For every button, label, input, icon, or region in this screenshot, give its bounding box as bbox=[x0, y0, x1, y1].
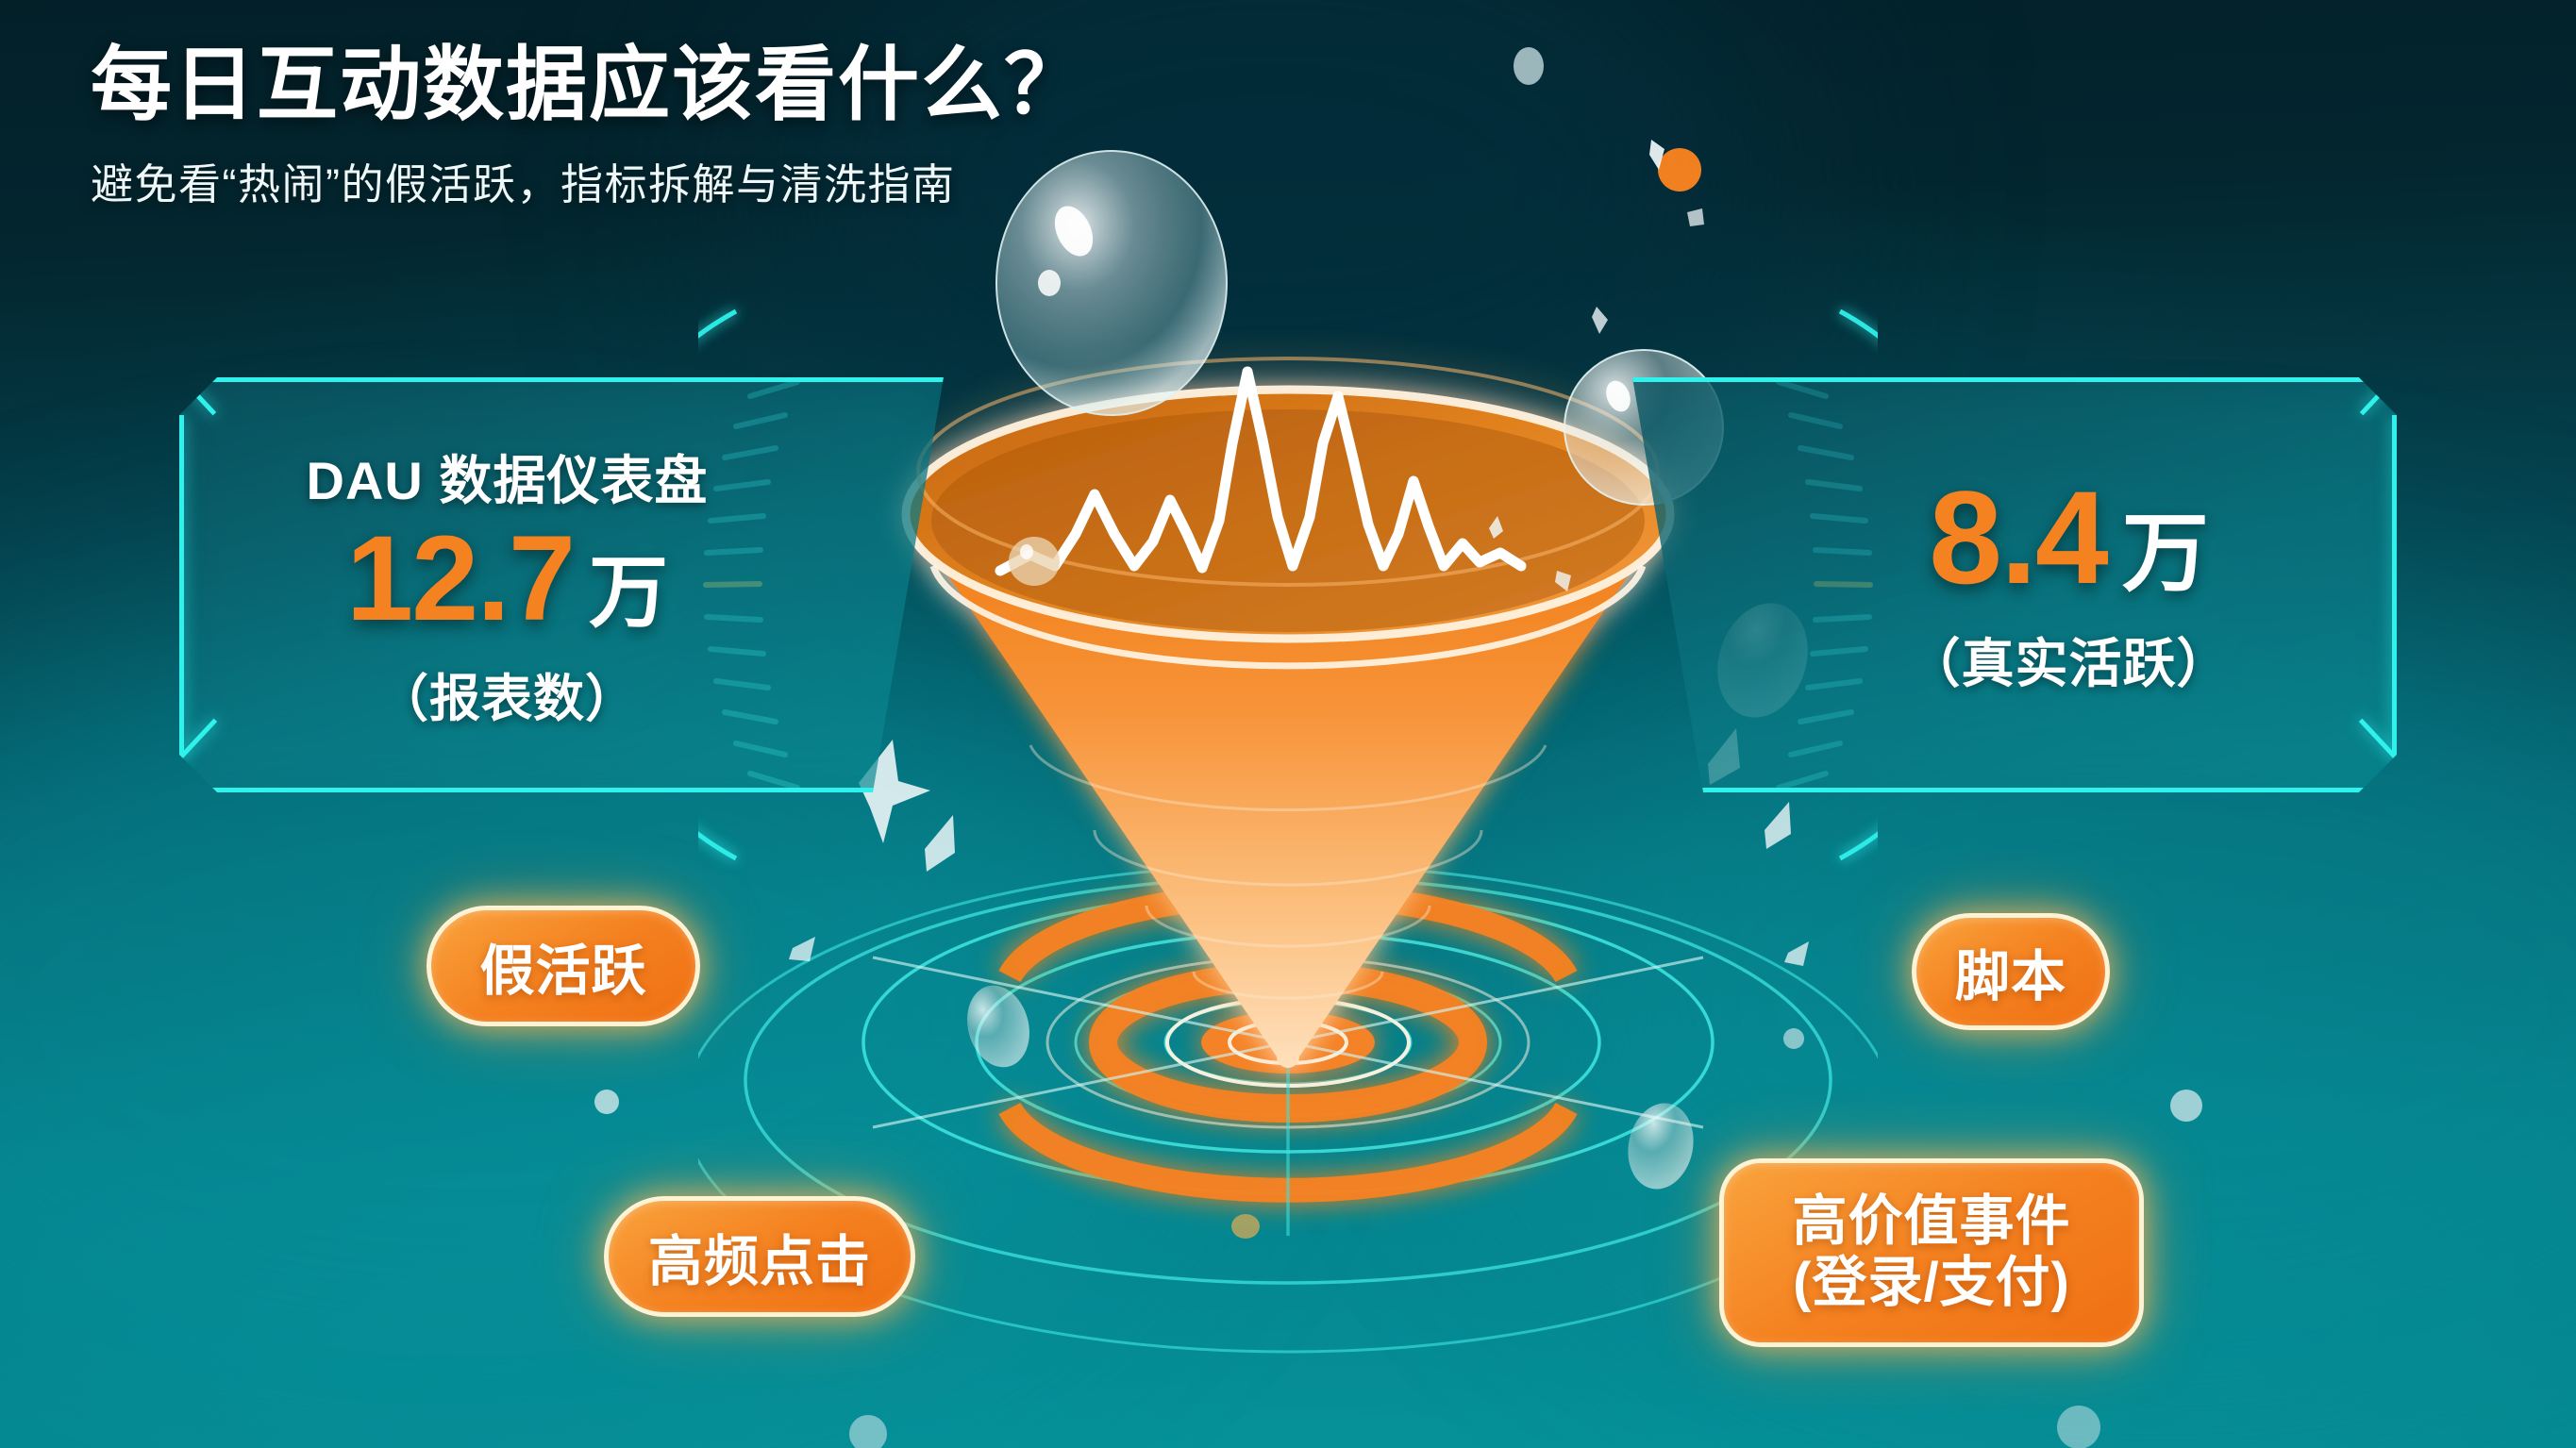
dot-gold-bottom bbox=[1231, 1214, 1260, 1239]
pill-high-value-event-line2: (登录/支付) bbox=[1793, 1253, 2070, 1314]
bubble-radar-right bbox=[1620, 1097, 1701, 1195]
funnel-cone bbox=[906, 358, 1670, 1068]
dot-decor-1 bbox=[594, 1090, 619, 1114]
bubble-tiny-top bbox=[1514, 47, 1544, 85]
stat-number-real: 8.4 bbox=[1929, 472, 2107, 604]
dot-decor-3 bbox=[849, 1415, 887, 1448]
stat-unit-dau: 万 bbox=[589, 529, 668, 643]
sparkle-shards bbox=[789, 140, 1809, 966]
pill-high-freq-click[interactable]: 高频点击 bbox=[604, 1196, 915, 1317]
waveform-line bbox=[1000, 372, 1521, 571]
radar-inner-highlights bbox=[1047, 957, 1529, 1127]
infographic-canvas: 每日互动数据应该看什么？ 避免看“热闹”的假活跃，指标拆解与清洗指南 bbox=[0, 0, 2576, 1448]
stat-unit-real: 万 bbox=[2122, 483, 2209, 608]
bubble-radar-left bbox=[959, 978, 1039, 1074]
dot-decor-4 bbox=[2057, 1406, 2100, 1448]
stat-number-dau: 12.7 bbox=[346, 519, 574, 640]
dot-orange-top bbox=[1658, 148, 1701, 191]
funnel-swirl-lines bbox=[1030, 745, 1546, 998]
dot-decor-5 bbox=[1783, 1028, 1804, 1049]
stat-label-dau: DAU 数据仪表盘 bbox=[307, 439, 709, 515]
page-subtitle: 避免看“热闹”的假活跃，指标拆解与清洗指南 bbox=[91, 150, 1087, 211]
page-title: 每日互动数据应该看什么？ bbox=[91, 42, 1087, 129]
stat-card-real-active[interactable]: 8.4 万 （真实活跃） bbox=[1632, 377, 2397, 792]
stat-sublabel-real: （真实活跃） bbox=[1908, 622, 2231, 698]
bubble-small-left bbox=[1009, 537, 1060, 586]
pill-high-value-event[interactable]: 高价值事件 (登录/支付) bbox=[1719, 1158, 2144, 1347]
stat-value-dau: 12.7 万 bbox=[346, 519, 668, 643]
radar-cross-lines bbox=[873, 957, 1703, 1236]
stat-card-dau-dashboard[interactable]: DAU 数据仪表盘 12.7 万 （报表数） bbox=[179, 377, 944, 792]
pill-high-value-event-line1: 高价值事件 bbox=[1792, 1191, 2070, 1253]
stat-sublabel-dau: （报表数） bbox=[377, 657, 637, 731]
dot-decor-2 bbox=[2170, 1090, 2202, 1122]
pill-script[interactable]: 脚本 bbox=[1912, 913, 2110, 1030]
stat-value-real: 8.4 万 bbox=[1929, 472, 2209, 608]
radar-rings-orange bbox=[1010, 894, 1566, 1190]
pill-fake-active[interactable]: 假活跃 bbox=[427, 906, 700, 1026]
header: 每日互动数据应该看什么？ 避免看“热闹”的假活跃，指标拆解与清洗指南 bbox=[91, 42, 1087, 211]
